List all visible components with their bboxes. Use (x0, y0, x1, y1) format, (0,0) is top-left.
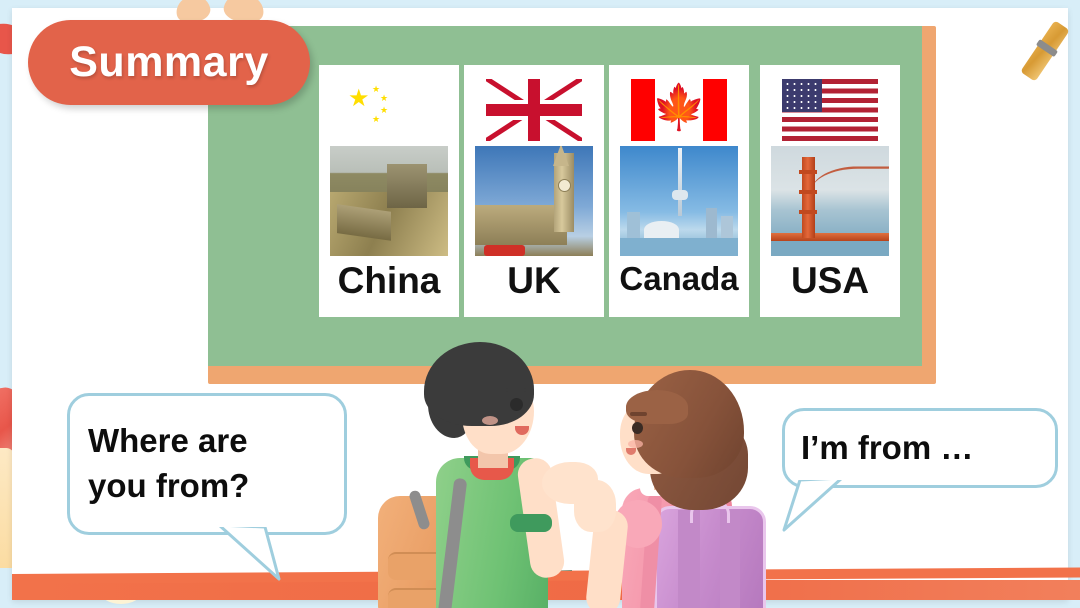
flag-china-icon: ★★★★★ (341, 79, 437, 141)
speech-bubble-answer-tail (784, 476, 846, 532)
speech-bubble-question-tail (217, 523, 287, 581)
summary-badge-label: Summary (69, 38, 268, 87)
students-illustration (364, 338, 784, 608)
country-label-usa: USA (791, 262, 869, 299)
flag-canada-icon: 🍁 (631, 79, 727, 141)
question-line-1: Where are (88, 422, 248, 459)
speech-bubble-question: Where are you from? (67, 393, 347, 535)
great-wall-photo (330, 146, 448, 256)
girl-student-illustration (592, 360, 784, 608)
country-card-canada[interactable]: 🍁 Canada (609, 65, 749, 317)
speech-bubble-question-text: Where are you from? (88, 419, 249, 508)
country-card-uk[interactable]: UK (464, 65, 604, 317)
summary-badge: Summary (28, 20, 310, 105)
cn-tower-photo (620, 146, 738, 256)
country-label-china: China (338, 262, 441, 299)
clothespin-icon (1020, 20, 1070, 81)
speech-bubble-answer-text: I’m from … (801, 430, 973, 466)
question-line-2: you from? (88, 467, 249, 504)
flag-uk-icon (486, 79, 582, 141)
country-card-usa[interactable]: USA (760, 65, 900, 317)
golden-gate-photo (771, 146, 889, 256)
flag-usa-icon (782, 79, 878, 141)
big-ben-photo (475, 146, 593, 256)
slide-canvas: ★★★★★ China UK (0, 0, 1080, 608)
boy-student-illustration (374, 338, 589, 608)
country-label-canada: Canada (619, 262, 738, 295)
country-card-china[interactable]: ★★★★★ China (319, 65, 459, 317)
country-label-uk: UK (507, 262, 560, 299)
